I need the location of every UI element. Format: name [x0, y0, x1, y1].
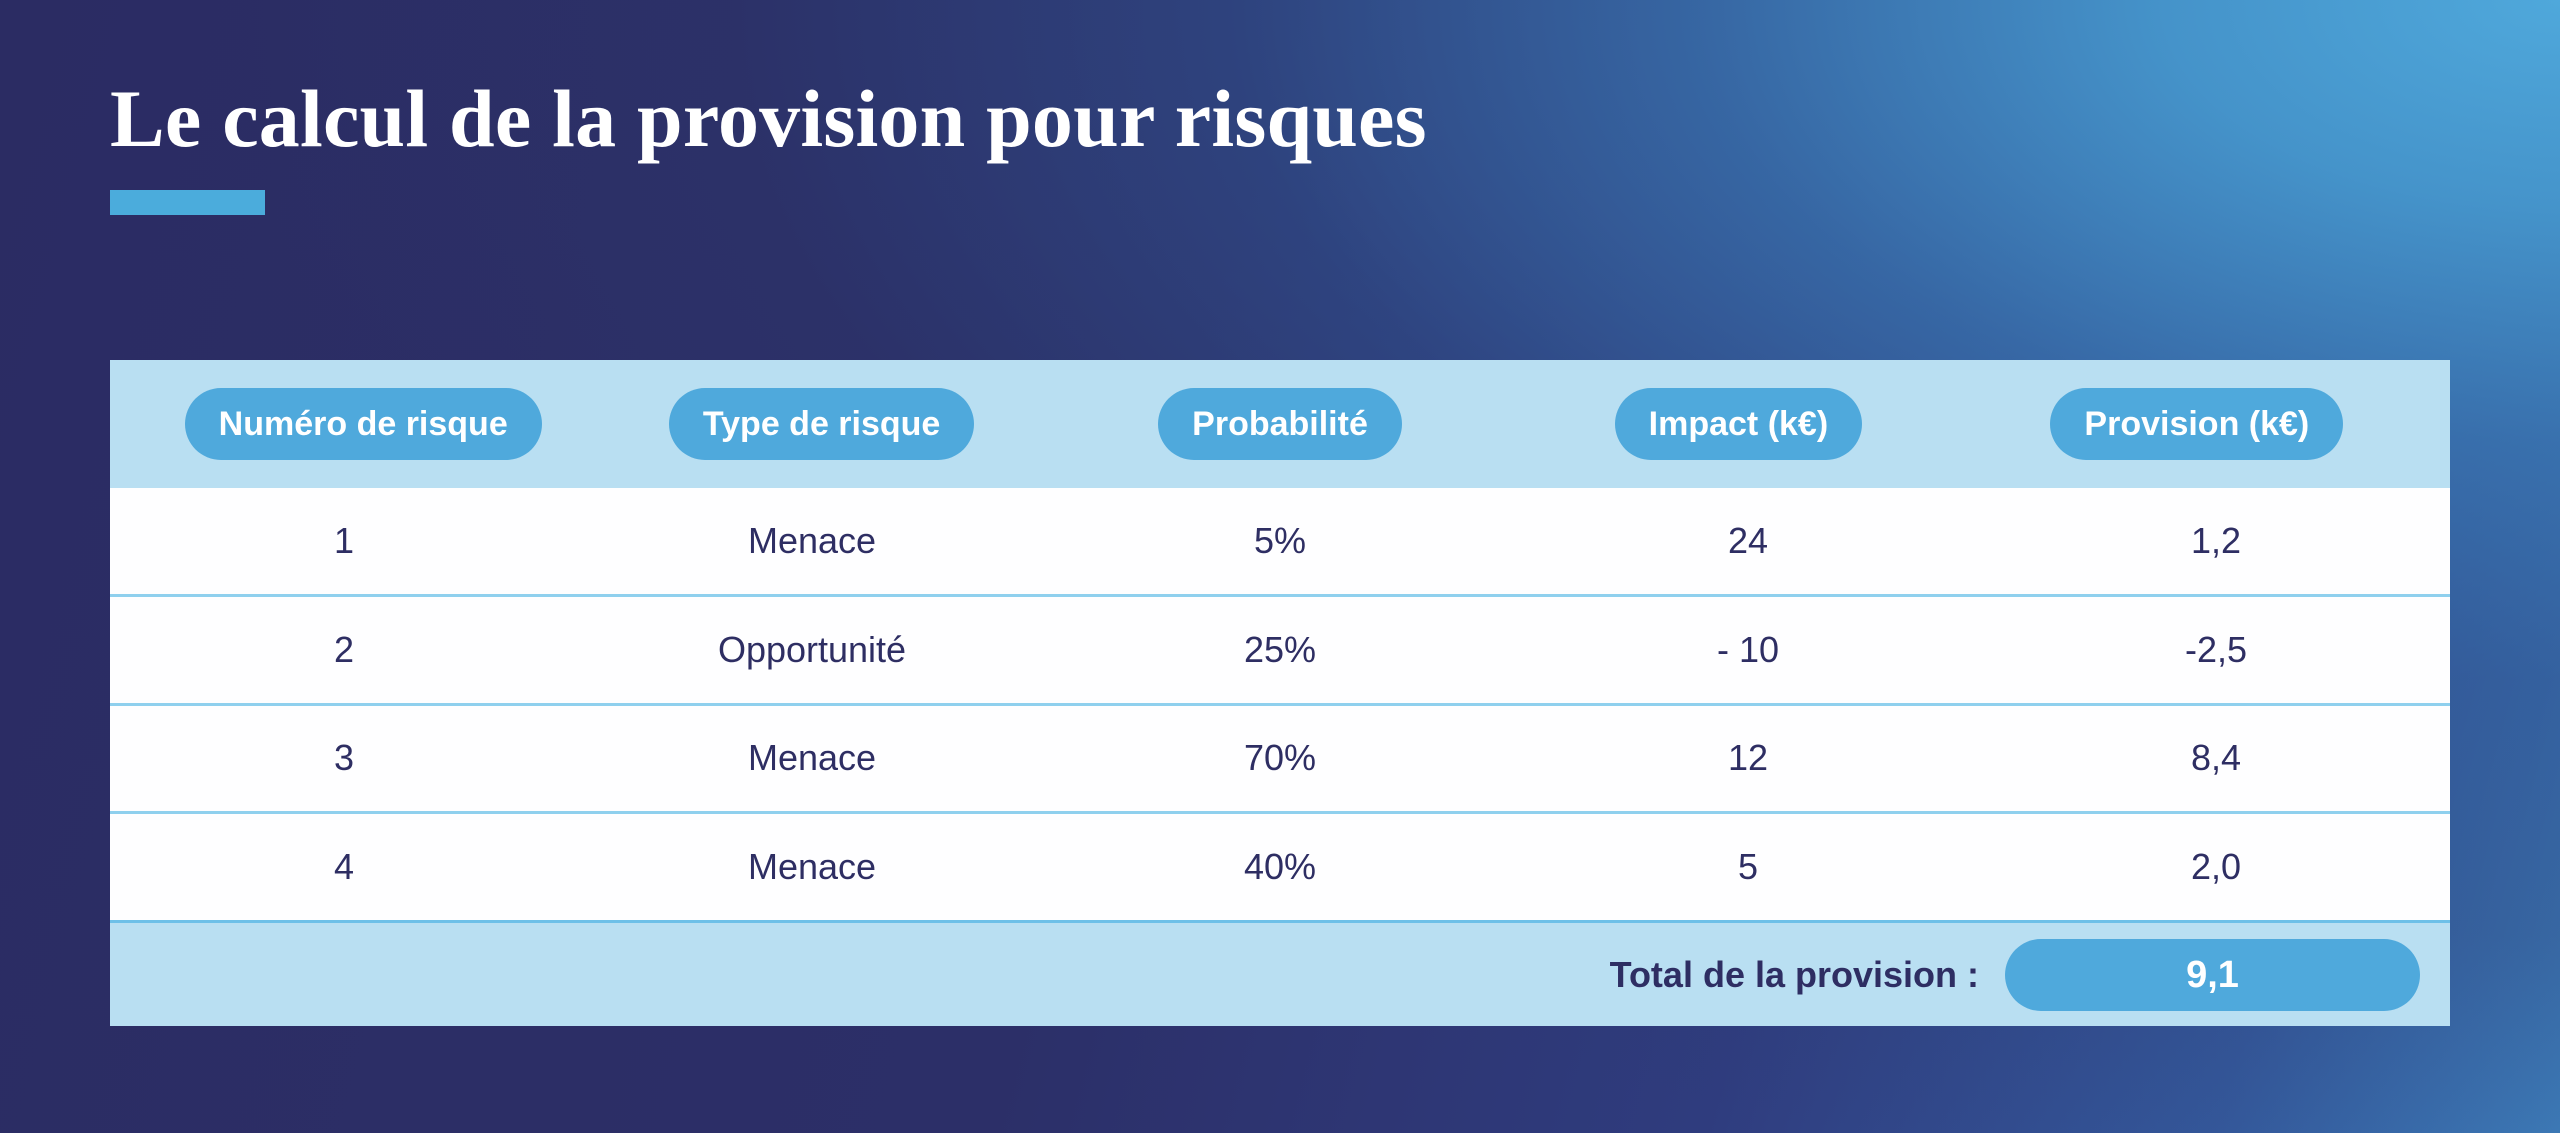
table-total-row: Total de la provision : 9,1	[110, 920, 2450, 1026]
cell-impact: 5	[1514, 846, 1982, 888]
table-header-cell-type: Type de risque	[592, 388, 1050, 460]
table-row: 1 Menace 5% 24 1,2	[110, 488, 2450, 597]
cell-probabilite: 70%	[1046, 737, 1514, 779]
cell-type: Menace	[578, 520, 1046, 562]
title-block: Le calcul de la provision pour risques	[110, 78, 2210, 215]
table-header-cell-impact: Impact (k€)	[1509, 388, 1967, 460]
cell-type: Menace	[578, 737, 1046, 779]
cell-impact: - 10	[1514, 629, 1982, 671]
cell-type: Opportunité	[578, 629, 1046, 671]
cell-probabilite: 5%	[1046, 520, 1514, 562]
cell-numero: 4	[110, 846, 578, 888]
cell-numero: 2	[110, 629, 578, 671]
table-header-cell-probabilite: Probabilité	[1051, 388, 1509, 460]
cell-provision: -2,5	[1982, 629, 2450, 671]
table-header-cell-numero: Numéro de risque	[134, 388, 592, 460]
cell-impact: 12	[1514, 737, 1982, 779]
header-pill-impact: Impact (k€)	[1615, 388, 1863, 460]
header-pill-provision: Provision (k€)	[2050, 388, 2343, 460]
cell-provision: 8,4	[1982, 737, 2450, 779]
cell-provision: 2,0	[1982, 846, 2450, 888]
total-label: Total de la provision :	[1610, 954, 1979, 996]
table-row: 2 Opportunité 25% - 10 -2,5	[110, 597, 2450, 706]
header-pill-type: Type de risque	[669, 388, 974, 460]
cell-type: Menace	[578, 846, 1046, 888]
table-row: 4 Menace 40% 5 2,0	[110, 814, 2450, 920]
cell-probabilite: 25%	[1046, 629, 1514, 671]
header-pill-numero: Numéro de risque	[185, 388, 542, 460]
cell-numero: 1	[110, 520, 578, 562]
cell-numero: 3	[110, 737, 578, 779]
total-value-pill: 9,1	[2005, 939, 2420, 1011]
table-body: 1 Menace 5% 24 1,2 2 Opportunité 25% - 1…	[110, 488, 2450, 920]
header-pill-probabilite: Probabilité	[1158, 388, 1402, 460]
slide-canvas: Le calcul de la provision pour risques N…	[0, 0, 2560, 1133]
cell-provision: 1,2	[1982, 520, 2450, 562]
table-row: 3 Menace 70% 12 8,4	[110, 706, 2450, 815]
table-header-cell-provision: Provision (k€)	[1968, 388, 2426, 460]
title-accent-bar	[110, 190, 265, 215]
cell-probabilite: 40%	[1046, 846, 1514, 888]
cell-impact: 24	[1514, 520, 1982, 562]
page-title: Le calcul de la provision pour risques	[110, 78, 2210, 160]
table-header-row: Numéro de risque Type de risque Probabil…	[110, 360, 2450, 488]
risk-provision-table: Numéro de risque Type de risque Probabil…	[110, 360, 2450, 1026]
